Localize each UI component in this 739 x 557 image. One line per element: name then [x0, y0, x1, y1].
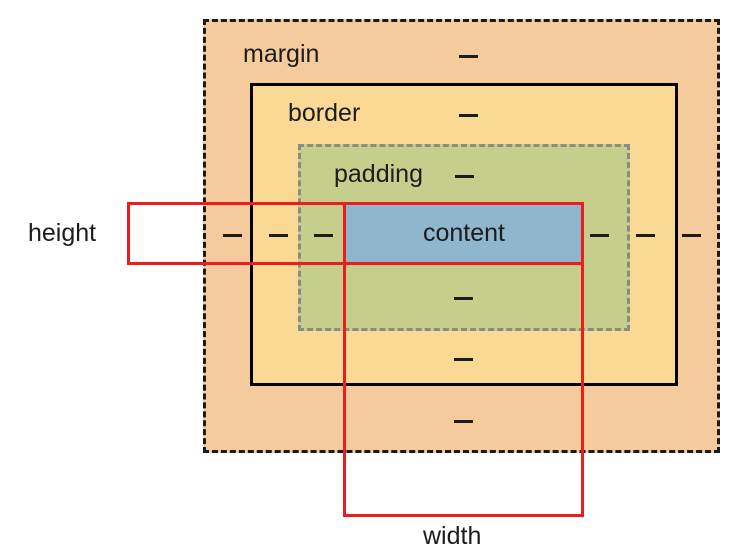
padding-label-dash-icon — [455, 175, 474, 178]
margin-label: margin — [243, 42, 319, 67]
tick-dash-icon-right-border — [636, 234, 655, 237]
margin-label-dash-icon — [459, 55, 478, 58]
tick-dash-icon-right-padding — [590, 234, 609, 237]
width-label: width — [423, 524, 481, 549]
css-box-model-diagram: margin border padding content height wid… — [0, 0, 739, 557]
height-label: height — [28, 221, 96, 246]
border-label-dash-icon — [459, 114, 478, 117]
tick-dash-icon-right-margin — [682, 234, 701, 237]
height-measurement-bracket — [127, 202, 584, 265]
border-label: border — [288, 101, 360, 126]
padding-label: padding — [334, 162, 423, 187]
